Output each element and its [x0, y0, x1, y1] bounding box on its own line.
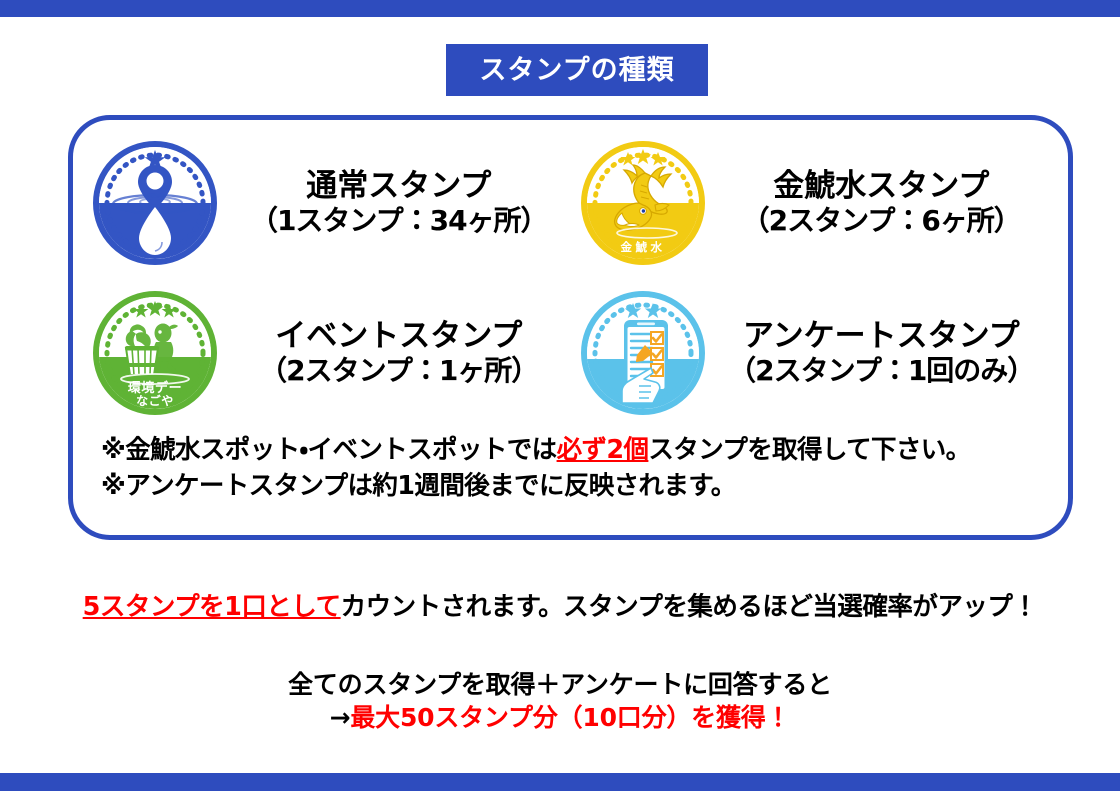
stamp-type-kinshachi-title: 金鯱水スタンプ — [715, 169, 1049, 204]
kinshachi-badge-text: 金鯱水 — [620, 240, 665, 254]
bottom-accent-bar — [0, 773, 1120, 791]
stamp-type-kinshachi-text: 金鯱水スタンプ （2スタンプ：6ヶ所） — [715, 169, 1049, 236]
final-reward-block: 全てのスタンプを取得＋アンケートに回答すると →最大50スタンプ分（10口分）を… — [0, 668, 1120, 734]
top-accent-bar — [0, 0, 1120, 17]
stamp-type-regular: 通常スタンプ （1スタンプ：34ヶ所） — [93, 128, 571, 278]
stamp-type-kinshachi: 金鯱水 金鯱水スタンプ （2スタンプ：6ヶ所） — [571, 128, 1049, 278]
event-badge-text-line2: なごや — [136, 393, 174, 408]
stamp-type-event-subtitle: （2スタンプ：1ヶ所） — [227, 355, 571, 387]
final-reward-line: →最大50スタンプ分（10口分）を獲得！ — [0, 701, 1120, 734]
section-title-badge: スタンプの種類 — [446, 44, 708, 96]
golden-shachihoko-stamp-icon: 金鯱水 — [581, 141, 705, 265]
final-condition-line: 全てのスタンプを取得＋アンケートに回答すると — [0, 668, 1120, 701]
stamp-type-kinshachi-subtitle: （2スタンプ：6ヶ所） — [715, 205, 1049, 237]
card-notes: ※金鯱水スポット・イベントスポットでは必ず2個スタンプを取得して下さい。 ※アン… — [101, 432, 1052, 504]
note-line-1-prefix: ※金鯱水スポット・イベントスポットでは — [101, 435, 557, 465]
stamp-type-event-text: イベントスタンプ （2スタンプ：1ヶ所） — [227, 319, 571, 386]
count-rule-highlight: 5スタンプを1口として — [83, 592, 341, 622]
stamp-type-survey: アンケートスタンプ （2スタンプ：1回のみ） — [571, 278, 1049, 428]
note-line-1-suffix: スタンプを取得して下さい。 — [648, 435, 970, 465]
stamp-type-regular-title: 通常スタンプ — [227, 169, 571, 204]
stamp-type-survey-subtitle: （2スタンプ：1回のみ） — [715, 355, 1049, 387]
stamp-type-regular-subtitle: （1スタンプ：34ヶ所） — [227, 205, 571, 237]
stamp-type-regular-text: 通常スタンプ （1スタンプ：34ヶ所） — [227, 169, 571, 236]
water-drop-location-pin-stamp-icon — [93, 141, 217, 265]
note-line-1: ※金鯱水スポット・イベントスポットでは必ず2個スタンプを取得して下さい。 — [101, 432, 1052, 468]
stamp-type-event: 環境デー なごや イベントスタンプ （2スタンプ：1ヶ所） — [93, 278, 571, 428]
final-reward-arrow: → — [330, 703, 351, 732]
count-rule-rest: カウントされます。スタンプを集めるほど当選確率がアップ！ — [341, 592, 1038, 622]
count-rule-line: 5スタンプを1口としてカウントされます。スタンプを集めるほど当選確率がアップ！ — [0, 586, 1120, 623]
stamp-types-card: 通常スタンプ （1スタンプ：34ヶ所） — [68, 115, 1073, 540]
section-title-label: スタンプの種類 — [479, 57, 674, 84]
environment-day-event-stamp-icon: 環境デー なごや — [93, 291, 217, 415]
stamp-type-survey-text: アンケートスタンプ （2スタンプ：1回のみ） — [715, 319, 1049, 386]
survey-smartphone-stamp-icon — [581, 291, 705, 415]
final-reward-amount: 最大50スタンプ分（10口分）を獲得！ — [350, 703, 790, 732]
note-line-1-highlight: 必ず2個 — [557, 435, 649, 465]
note-line-2: ※アンケートスタンプは約1週間後までに反映されます。 — [101, 468, 1052, 504]
stamp-type-survey-title: アンケートスタンプ — [715, 319, 1049, 354]
stamp-type-event-title: イベントスタンプ — [227, 319, 571, 354]
stamp-type-grid: 通常スタンプ （1スタンプ：34ヶ所） — [73, 128, 1068, 428]
